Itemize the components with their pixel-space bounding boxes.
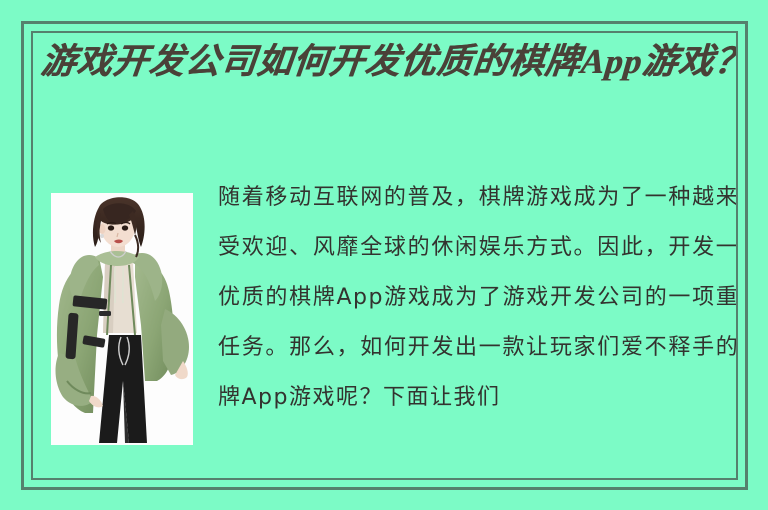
poster-canvas: 游戏开发公司如何开发优质的棋牌App游戏？ (0, 0, 768, 510)
illustration-figure (37, 185, 207, 450)
content-area: 游戏开发公司如何开发优质的棋牌App游戏？ (33, 33, 736, 478)
article-headline: 游戏开发公司如何开发优质的棋牌App游戏？ (39, 39, 736, 84)
woman-illustration-icon (37, 185, 207, 450)
article-body: 随着移动互联网的普及，棋牌游戏成为了一种越来越受欢迎、风靡全球的休闲娱乐方式。因… (218, 173, 736, 423)
